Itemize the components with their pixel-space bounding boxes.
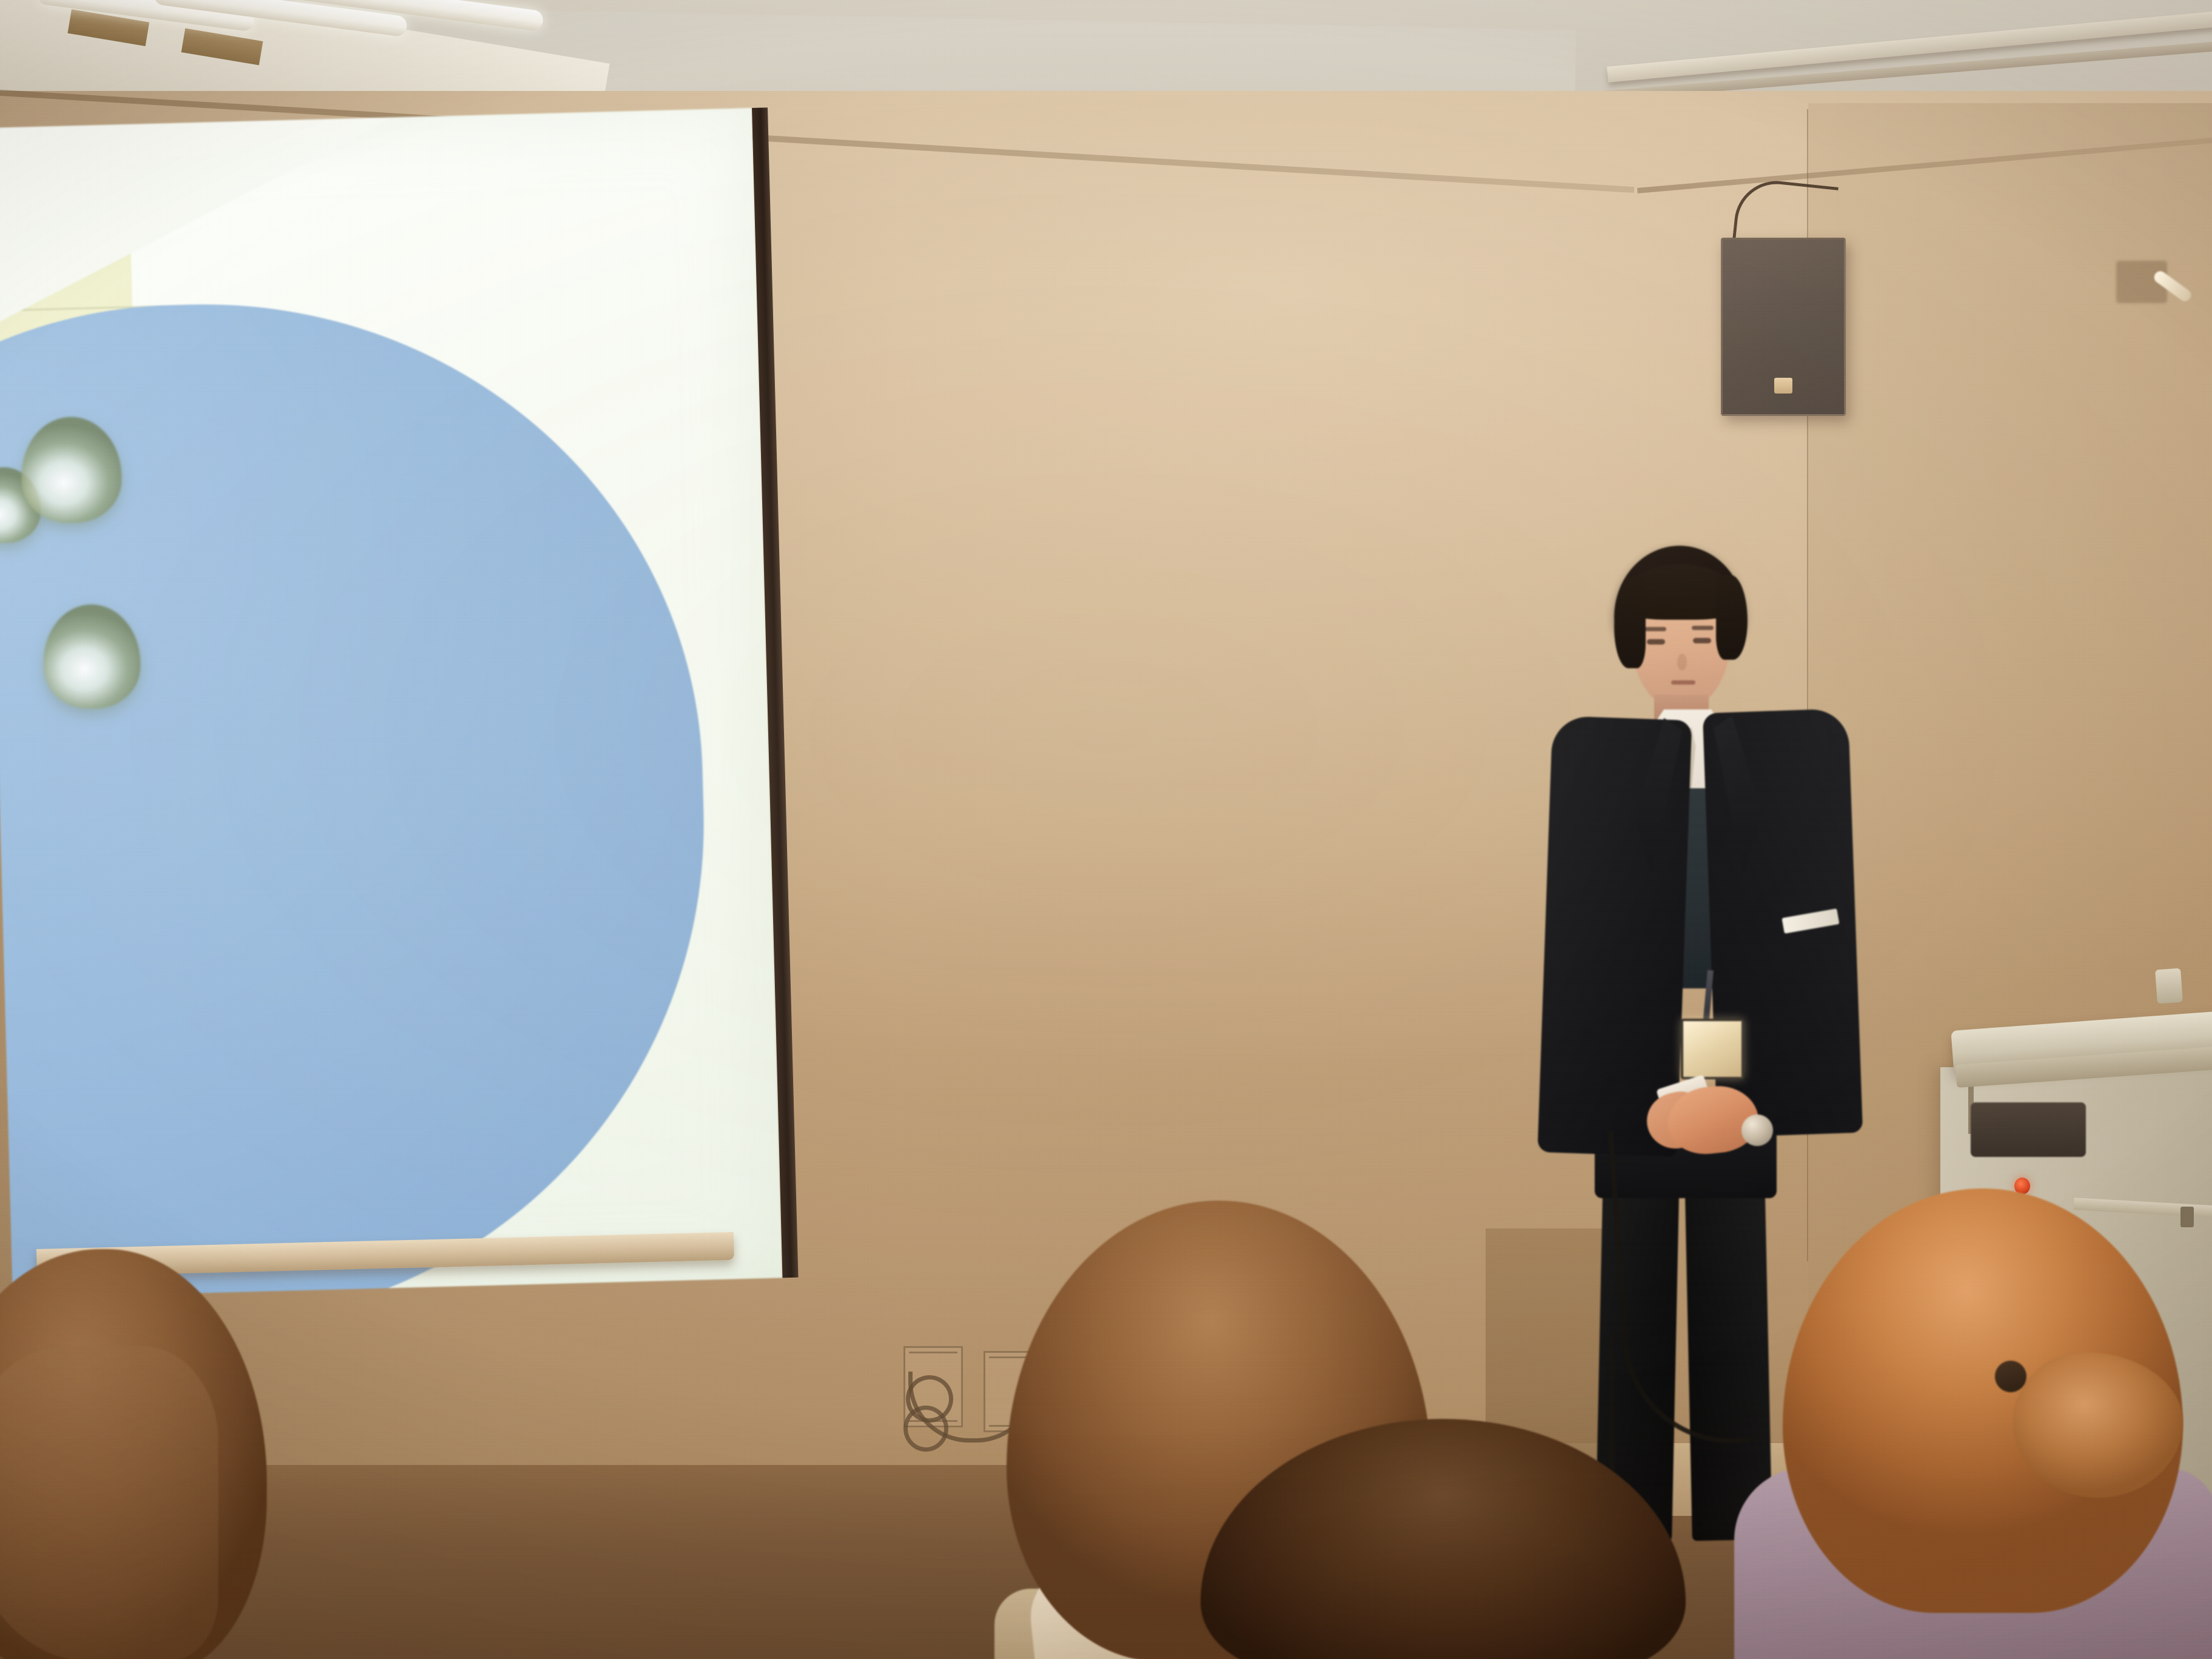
speaker-badge (1774, 378, 1792, 394)
presenter-mouth (1671, 680, 1695, 685)
presenter-hair-side-right (1716, 575, 1748, 660)
handheld-microphone-head[interactable] (1741, 1114, 1773, 1146)
conference-presentation-photo (0, 0, 2212, 1659)
presenter-hair-side-left (1614, 577, 1646, 668)
presenter-eyebrow-right (1692, 626, 1714, 630)
pull-down-projection-screen[interactable] (0, 108, 783, 1298)
name-badge (1681, 1019, 1744, 1079)
wall-cable-coil (903, 1406, 948, 1452)
presenter-eye-right (1693, 638, 1711, 643)
audience-member-right-hair-tie (1995, 1361, 2026, 1392)
lectern-knob[interactable] (2155, 968, 2183, 1004)
audience-member-left-hair-strands (0, 1346, 218, 1659)
presenter-eye-left (1647, 639, 1665, 645)
projection-screen-surface (0, 108, 783, 1298)
lectern-shelf-stop (2180, 1207, 2194, 1227)
wall-mounted-speaker (1721, 238, 1846, 416)
outlet-line (909, 1352, 958, 1353)
presenter-nose (1677, 654, 1687, 671)
presenter-eyebrow-left (1644, 627, 1666, 631)
microphone-cable (1609, 1322, 1651, 1480)
